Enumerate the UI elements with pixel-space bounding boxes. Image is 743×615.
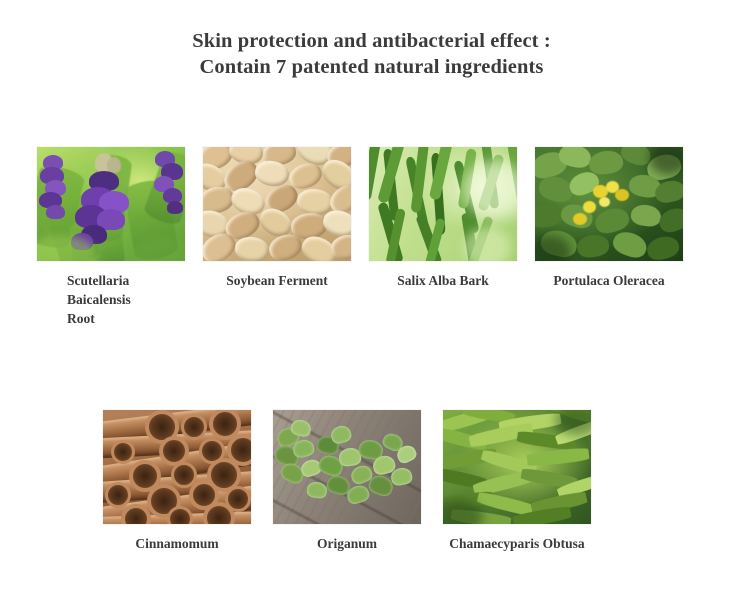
origanum-photo: [273, 410, 421, 524]
ingredient-label-origanum: Origanum: [273, 534, 421, 553]
ingredient-card-soybean-ferment[interactable]: Soybean Ferment: [203, 147, 351, 290]
ingredient-card-origanum[interactable]: Origanum: [273, 410, 421, 553]
ingredient-label-portulaca-oleracea: Portulaca Oleracea: [535, 271, 683, 290]
ingredient-card-scutellaria-baicalensis-root[interactable]: Scutellaria Baicalensis Root: [37, 147, 227, 328]
scutellaria-baicalensis-photo: [37, 147, 185, 261]
page-title-line-2: Contain 7 patented natural ingredients: [0, 54, 743, 80]
page-title-line-1: Skin protection and antibacterial effect…: [0, 28, 743, 54]
slide-canvas: Skin protection and antibacterial effect…: [0, 0, 743, 615]
soybean-ferment-photo: [203, 147, 351, 261]
salix-alba-bark-photo: [369, 147, 517, 261]
ingredient-label-chamaecyparis-obtusa: Chamaecyparis Obtusa: [443, 534, 591, 553]
ingredient-card-cinnamomum[interactable]: Cinnamomum: [103, 410, 251, 553]
ingredient-row-bottom: Cinnamomum: [0, 410, 743, 570]
page-title: Skin protection and antibacterial effect…: [0, 28, 743, 80]
ingredient-label-soybean-ferment: Soybean Ferment: [203, 271, 351, 290]
cinnamomum-photo: [103, 410, 251, 524]
ingredient-label-cinnamomum: Cinnamomum: [103, 534, 251, 553]
ingredient-label-salix-alba-bark: Salix Alba Bark: [369, 271, 517, 290]
portulaca-oleracea-photo: [535, 147, 683, 261]
ingredient-card-portulaca-oleracea[interactable]: Portulaca Oleracea: [535, 147, 683, 290]
ingredient-row-top: Scutellaria Baicalensis Root: [0, 147, 743, 347]
chamaecyparis-obtusa-photo: [443, 410, 591, 524]
ingredient-label-scutellaria-baicalensis-root: Scutellaria Baicalensis Root: [37, 271, 227, 328]
ingredient-card-chamaecyparis-obtusa[interactable]: Chamaecyparis Obtusa: [443, 410, 591, 553]
ingredient-card-salix-alba-bark[interactable]: Salix Alba Bark: [369, 147, 517, 290]
